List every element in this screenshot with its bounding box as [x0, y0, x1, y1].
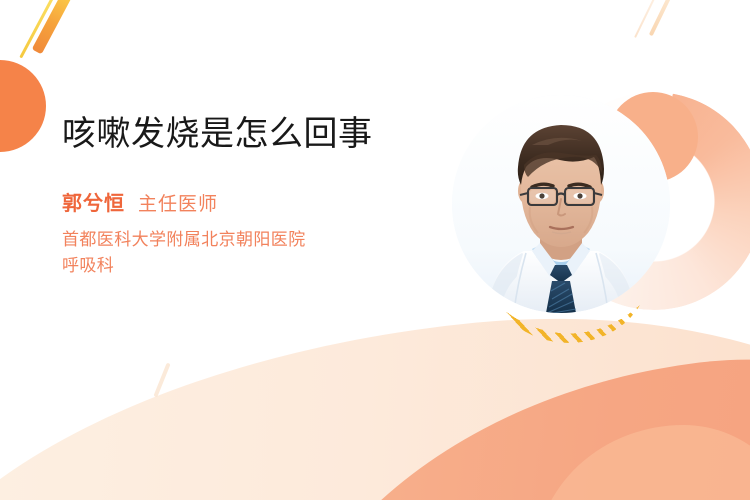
- text-content-block: 咳嗽发烧是怎么回事 郭兮恒 主任医师 首都医科大学附属北京朝阳医院 呼吸科: [62, 112, 412, 280]
- orange-diagonal-stroke-icon: [32, 0, 76, 54]
- orange-circle-icon: [0, 60, 46, 152]
- salmon-wave-shape: [232, 327, 750, 500]
- video-cover-card: 咳嗽发烧是怎么回事 郭兮恒 主任医师 首都医科大学附属北京朝阳医院 呼吸科: [0, 0, 750, 500]
- doctor-affiliation: 首都医科大学附属北京朝阳医院 呼吸科: [62, 227, 380, 280]
- yellow-diagonal-stroke-icon: [19, 0, 55, 58]
- hospital-name: 首都医科大学附属北京朝阳医院: [62, 230, 306, 249]
- faint-diagonal-stroke-icon-1: [649, 0, 675, 36]
- doctor-name: 郭兮恒: [62, 187, 125, 216]
- department-name: 呼吸科: [62, 253, 380, 279]
- doctor-portrait-container: [452, 95, 670, 313]
- faint-diagonal-stroke-icon-2: [634, 0, 658, 38]
- doctor-rank: 主任医师: [138, 189, 218, 216]
- faint-diagonal-stroke-icon-3: [153, 363, 170, 398]
- portrait-illustration: [452, 95, 670, 313]
- doctor-portrait-photo: [452, 95, 670, 313]
- doctor-credentials-line: 郭兮恒 主任医师: [62, 187, 412, 216]
- page-title: 咳嗽发烧是怎么回事: [62, 112, 402, 157]
- salmon-blob-shape: [535, 425, 750, 500]
